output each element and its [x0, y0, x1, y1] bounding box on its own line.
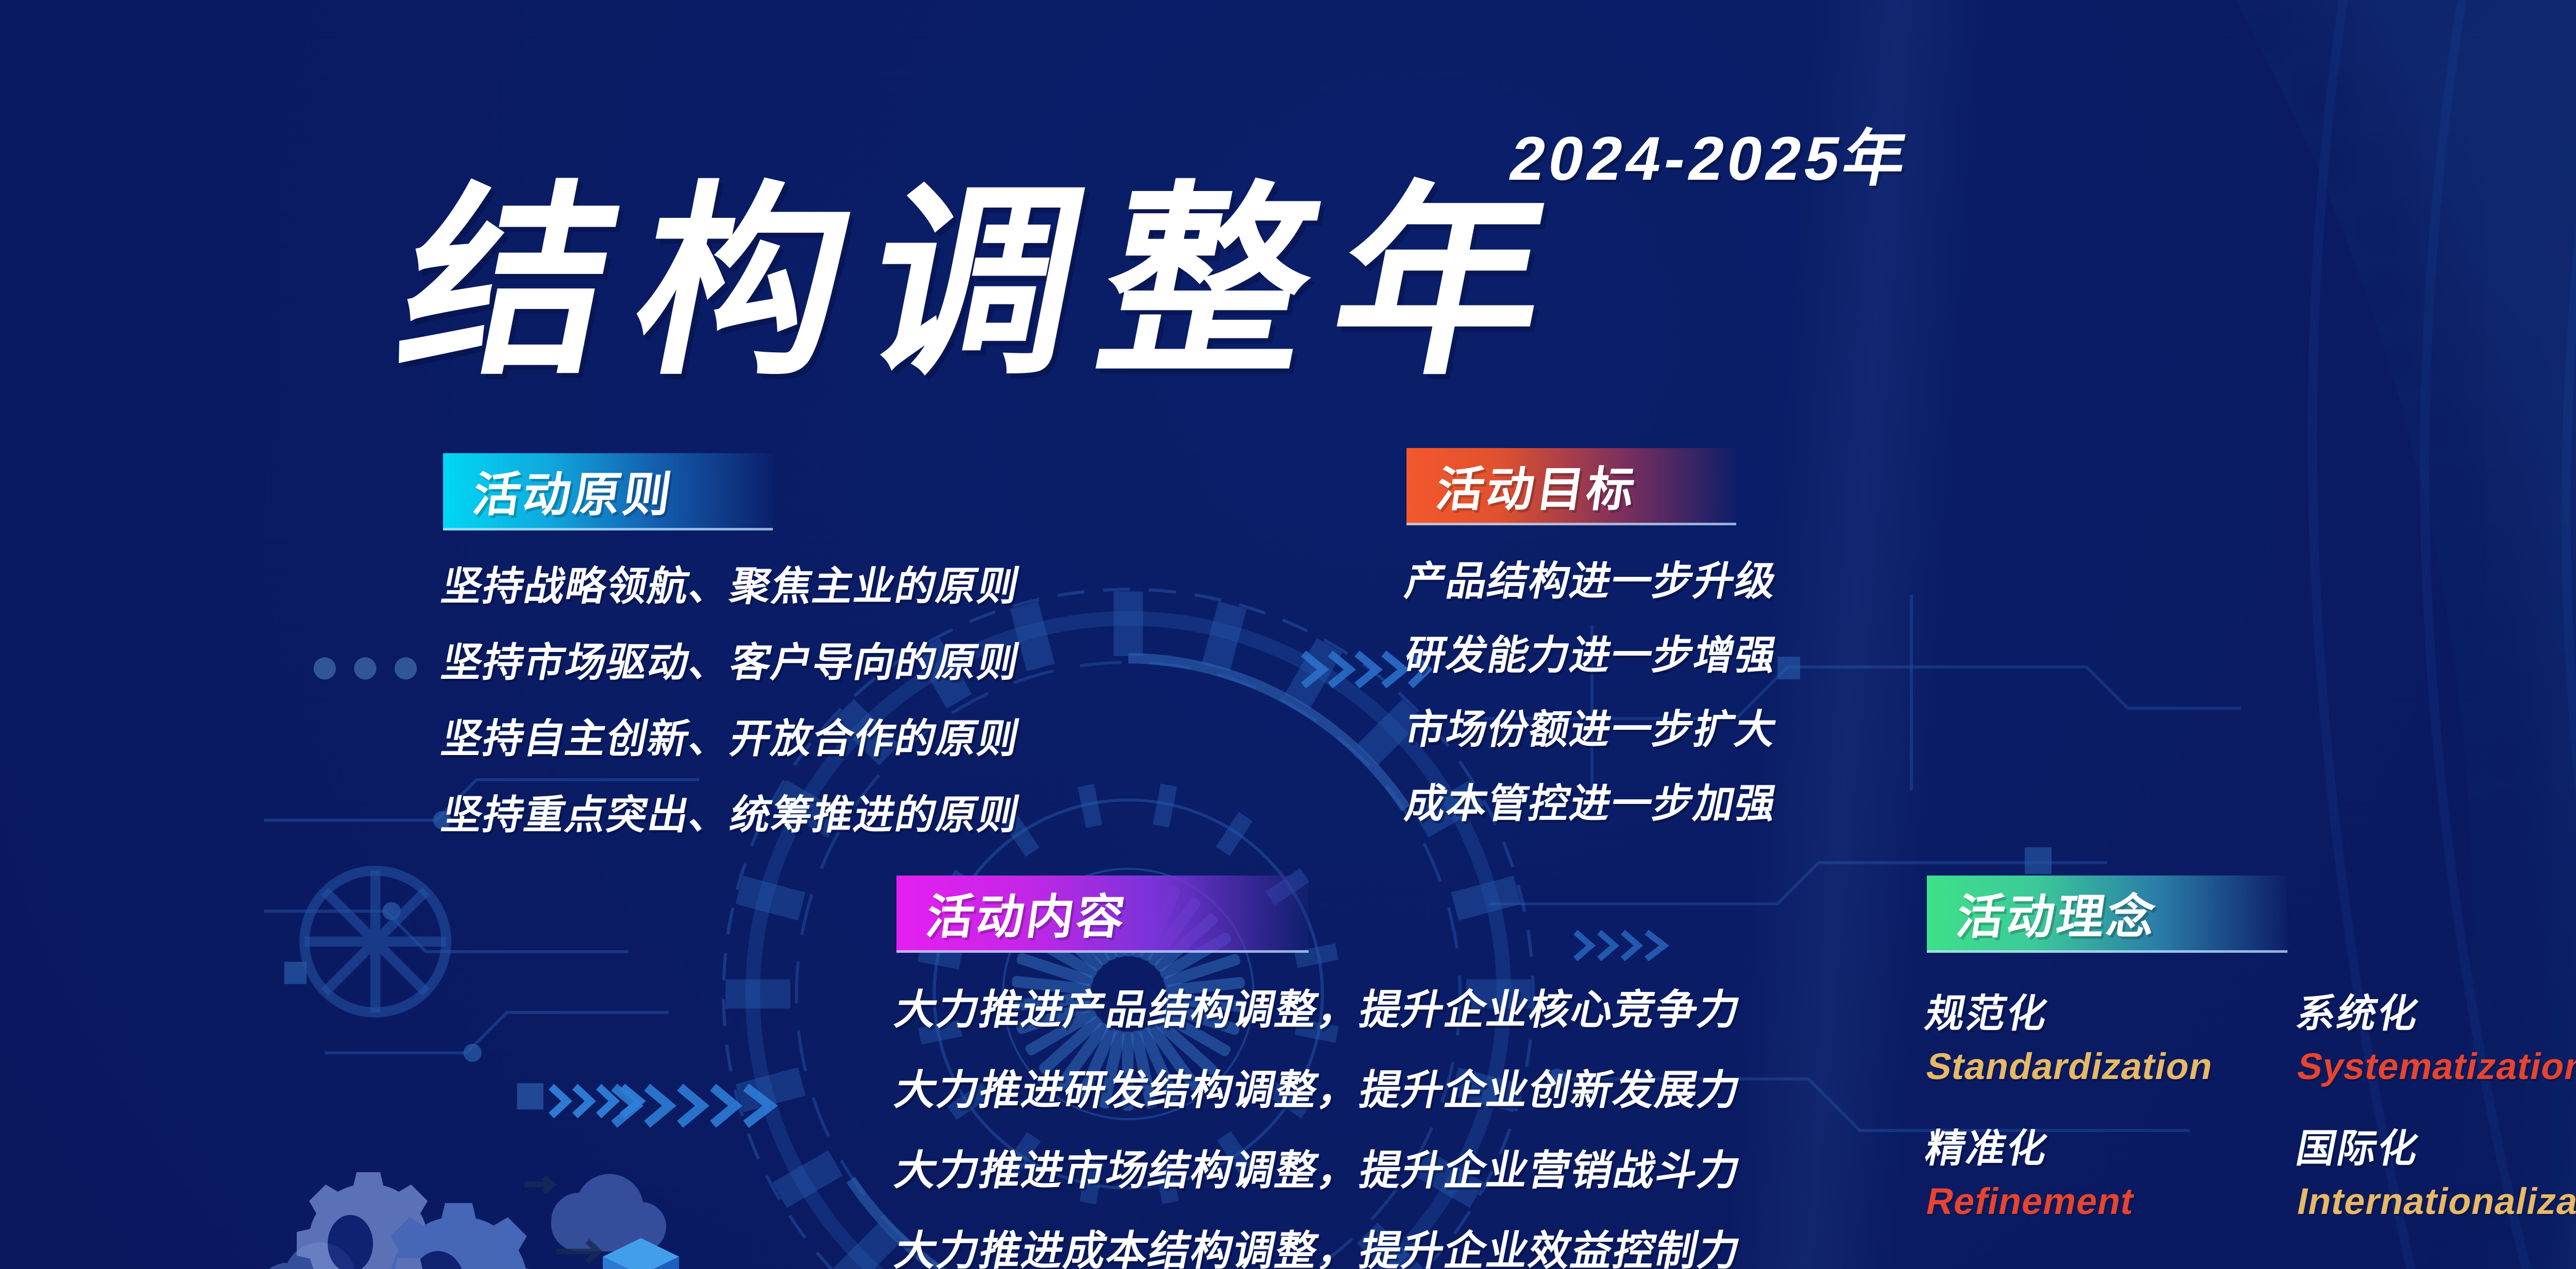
list-item: 大力推进研发结构调整，提升企业创新发展力 [891, 1057, 1748, 1117]
idea-item: 国际化 Internationalization [2298, 1117, 2576, 1223]
list-item: 坚持自主创新、开放合作的原则 [437, 707, 1026, 764]
panel-content-header: 活动内容 [896, 876, 1309, 953]
panel-principles: 活动原则 坚持战略领航、聚焦主业的原则 坚持市场驱动、客户导向的原则 坚持自主创… [443, 453, 1020, 859]
list-item: 大力推进产品结构调整，提升企业核心竞争力 [891, 976, 1748, 1036]
panel-content-list: 大力推进产品结构调整，提升企业核心竞争力 大力推进研发结构调整，提升企业创新发展… [896, 976, 1741, 1269]
panel-goals-list: 产品结构进一步升级 研发能力进一步增强 市场份额进一步扩大 成本管控进一步加强 [1406, 549, 1777, 829]
panel-goals-header: 活动目标 [1406, 448, 1736, 525]
panel-principles-header: 活动原则 [443, 453, 773, 530]
idea-label-en: Systematization [2294, 1045, 2576, 1088]
panel-goals: 活动目标 产品结构进一步升级 研发能力进一步增强 市场份额进一步扩大 成本管控进… [1406, 448, 1777, 846]
idea-label-cn: 国际化 [2292, 1117, 2576, 1173]
idea-label-cn: 精准化 [1921, 1117, 2303, 1173]
idea-label-cn: 系统化 [2292, 982, 2576, 1038]
panel-content-title: 活动内容 [923, 879, 1132, 947]
list-item: 坚持战略领航、聚焦主业的原则 [437, 554, 1026, 612]
panel-goals-title: 活动目标 [1433, 451, 1642, 520]
idea-item: 精准化 Refinement [1927, 1117, 2298, 1223]
idea-label-en: Standardization [1923, 1045, 2302, 1088]
list-item: 成本管控进一步加强 [1401, 771, 1783, 829]
panel-idea: 活动理念 规范化 Standardization 系统化 Systematiza… [1927, 876, 2576, 1223]
gear-cluster-decoration [196, 1035, 773, 1269]
panel-principles-list: 坚持战略领航、聚焦主业的原则 坚持市场驱动、客户导向的原则 坚持自主创新、开放合… [443, 554, 1020, 841]
idea-label-cn: 规范化 [1921, 982, 2303, 1038]
poster-canvas: 2024-2025年 结构调整年 活动原则 坚持战略领航、聚焦主业的原则 坚持市… [0, 0, 2576, 1269]
panel-principles-title: 活动原则 [469, 456, 679, 525]
panel-idea-title: 活动理念 [1953, 879, 2163, 947]
list-item: 坚持重点突出、统筹推进的原则 [437, 783, 1026, 841]
list-item: 市场份额进一步扩大 [1401, 697, 1783, 755]
list-item: 大力推进市场结构调整，提升企业营销战斗力 [891, 1137, 1748, 1197]
idea-label-en: Internationalization [2294, 1180, 2576, 1223]
list-item: 产品结构进一步升级 [1401, 549, 1783, 607]
idea-item: 规范化 Standardization [1927, 982, 2298, 1088]
idea-label-en: Refinement [1923, 1180, 2302, 1223]
panel-idea-header: 活动理念 [1927, 876, 2287, 953]
panel-content: 活动内容 大力推进产品结构调整，提升企业核心竞争力 大力推进研发结构调整，提升企… [896, 876, 1741, 1269]
list-item: 大力推进成本结构调整，提升企业效益控制力 [891, 1217, 1748, 1269]
idea-item: 系统化 Systematization [2298, 982, 2576, 1088]
list-item: 研发能力进一步增强 [1401, 623, 1783, 681]
page-title: 结构调整年 [387, 180, 1591, 386]
list-item: 坚持市场驱动、客户导向的原则 [437, 630, 1026, 688]
panel-idea-grid: 规范化 Standardization 系统化 Systematization … [1927, 982, 2576, 1223]
